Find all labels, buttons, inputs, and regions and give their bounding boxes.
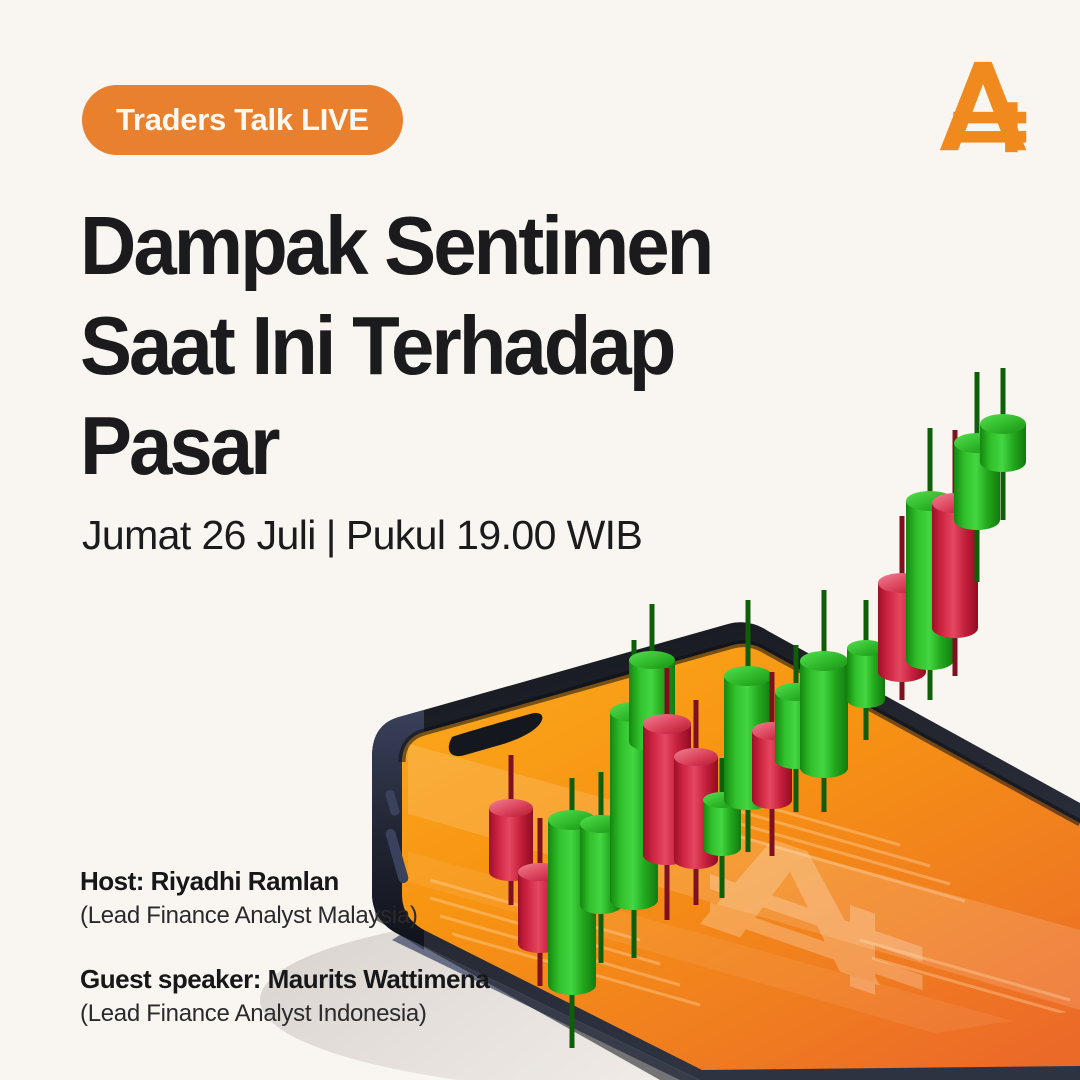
credit-guest: Guest speaker: Maurits Wattimena (Lead F… bbox=[80, 964, 489, 1028]
brand-a-monogram-icon bbox=[936, 58, 1032, 158]
credit-host-name: Host: Riyadhi Ramlan bbox=[80, 866, 489, 897]
credit-host-role: (Lead Finance Analyst Malaysia) bbox=[80, 902, 489, 930]
credit-host: Host: Riyadhi Ramlan (Lead Finance Analy… bbox=[80, 866, 489, 930]
live-badge: Traders Talk LIVE bbox=[82, 85, 403, 155]
credit-guest-name: Guest speaker: Maurits Wattimena bbox=[80, 964, 489, 995]
title-line-2: Saat Ini Terhadap bbox=[80, 296, 757, 396]
credit-guest-role: (Lead Finance Analyst Indonesia) bbox=[80, 1000, 489, 1028]
schedule-time: Pukul 19.00 WIB bbox=[346, 512, 642, 558]
live-badge-label: Traders Talk LIVE bbox=[116, 102, 369, 138]
schedule-separator: | bbox=[316, 512, 346, 558]
credits-block: Host: Riyadhi Ramlan (Lead Finance Analy… bbox=[80, 866, 489, 1062]
schedule-line: Jumat 26 Juli|Pukul 19.00 WIB bbox=[82, 512, 642, 559]
title-line-1: Dampak Sentimen bbox=[80, 196, 757, 296]
poster-canvas: Traders Talk LIVE Dampak Sentimen Saat I… bbox=[0, 0, 1080, 1080]
page-title: Dampak Sentimen Saat Ini Terhadap Pasar bbox=[80, 196, 757, 496]
title-line-3: Pasar bbox=[80, 396, 757, 496]
schedule-date: Jumat 26 Juli bbox=[82, 512, 316, 558]
